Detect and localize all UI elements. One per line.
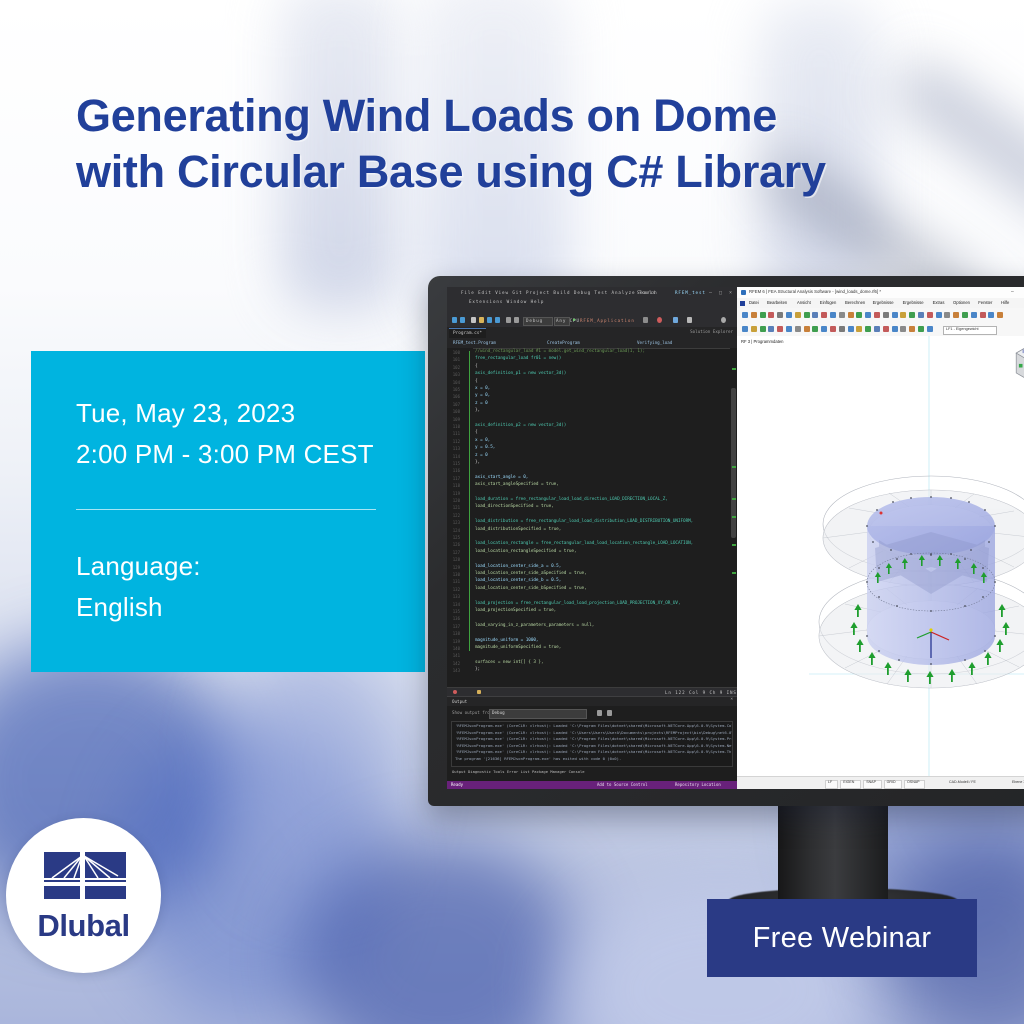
rfem-toolbar-icon[interactable] [997,312,1003,318]
status-repository[interactable]: Repository Location [675,782,721,787]
rfem-toolbar-icon[interactable] [839,312,845,318]
rfem-menu-item[interactable]: Extras [933,300,945,305]
code-line: load_location_center_side_a = 0.5, [475,565,561,569]
rfem-toolbar-icon[interactable] [848,312,854,318]
output-line: 'RFEMJsonProgram.exe' (CoreCLR: clrhost)… [455,724,733,728]
code-line: load_projection = free_rectangular_load_… [475,602,681,606]
line-number: 119 [453,491,460,496]
line-number: 112 [453,439,460,444]
line-number: 110 [453,424,460,429]
vs-maximize-button[interactable]: □ [719,290,722,296]
rfem-toolbar-icon[interactable] [865,326,871,332]
monitor-stand [778,804,888,900]
line-number: 126 [453,542,460,547]
rfem-logo-icon [740,301,745,306]
rfem-toolbar-icon[interactable] [821,312,827,318]
rfem-toolbar-icon[interactable] [856,312,862,318]
rfem-toolbar-icon[interactable] [865,312,871,318]
save-icon[interactable] [487,317,492,323]
vs-toolbar[interactable]: Debug Any CPU ▶ RFEM_Application [447,313,737,328]
rfem-toolbar-icon[interactable] [971,312,977,318]
line-number: 121 [453,505,460,510]
line-number: 105 [453,387,460,392]
warning-icon[interactable] [477,690,481,694]
dome-model-svg [809,336,1024,777]
rfem-menu-item[interactable]: Einfügen [820,300,837,305]
output-line: 'RFEMJsonProgram.exe' (CoreCLR: clrhost)… [455,731,733,735]
line-number: 132 [453,587,460,592]
rfem-toolbar-icon[interactable] [883,312,889,318]
rfem-menu-item[interactable]: Optionen [953,300,970,305]
language-label: Language: [76,551,201,582]
rfem-toolbar-icon[interactable] [786,312,792,318]
webinar-banner: Generating Wind Loads on Dome with Circu… [0,0,1024,1024]
output-panel-header: Output × [447,697,737,706]
rfem-toolbar-icon[interactable] [988,312,994,318]
wrap-output-icon[interactable] [607,710,612,716]
vs-editor-position: Ln 122 Col 9 Ch 9 INS [665,690,737,695]
breakpoint-icon[interactable] [657,317,662,323]
line-number: 134 [453,602,460,607]
rfem-toolbar-icon[interactable] [856,326,862,332]
error-icon[interactable] [453,690,457,694]
line-number: 111 [453,431,460,436]
open-file-icon[interactable] [479,317,484,323]
monitor-screen: File Edit View Git Project Build Debug T… [447,287,1024,789]
output-line: 'RFEMJsonProgram.exe' (CoreCLR: clrhost)… [455,737,733,741]
vs-change-bar [469,351,470,651]
line-number: 140 [453,646,460,651]
line-number: 114 [453,454,460,459]
clear-output-icon[interactable] [597,710,602,716]
code-line: load_distributionSpecified = true, [475,528,561,532]
code-line: load_distribution = free_rectangular_loa… [475,520,693,524]
rfem-toolbar-icon[interactable] [839,326,845,332]
tab-label: Program.cs* [453,331,482,336]
selected-node-marker [880,512,883,515]
line-number: 139 [453,639,460,644]
rfem-toolbar-row-2[interactable]: LF1 - Eigengewicht [737,322,1024,337]
rfem-menu-item[interactable]: Berechnen [845,300,865,305]
line-number: 138 [453,631,460,636]
vs-minimize-button[interactable]: – [709,290,712,296]
scrollbar-marker [732,516,736,518]
bridge-icon [44,852,126,902]
rfem-menu-item[interactable]: Ergebnisse [873,300,894,305]
step-over-icon[interactable] [673,317,678,323]
line-number: 142 [453,661,460,666]
event-date: Tue, May 23, 2023 [76,393,374,434]
rfem-toolbar-icon[interactable] [768,312,774,318]
line-number: 118 [453,483,460,488]
breadcrumb-method[interactable]: Verifying_load [637,340,672,345]
rfem-menu-item[interactable]: Ansicht [797,300,811,305]
view-cube-icon[interactable] [1009,342,1024,384]
code-line: { [475,431,478,435]
scrollbar-marker [732,544,736,546]
rfem-toolbar-icon[interactable] [918,326,924,332]
rfem-toolbar-icon[interactable] [812,312,818,318]
vs-status-bar: Ready Add to Source Control Repository L… [447,781,737,789]
rfem-toolbar-icon[interactable] [900,312,906,318]
line-number: 120 [453,498,460,503]
code-line: load_location_center_side_b = 0.5, [475,579,561,583]
event-datetime: Tue, May 23, 2023 2:00 PM - 3:00 PM CEST [76,393,374,475]
code-line: surfaces = new int[] { 3 }, [475,661,544,665]
code-line: magnitude_uniform = 1000, [475,639,538,643]
code-line: load_projectionSpecified = true, [475,609,556,613]
stop-icon[interactable] [643,317,648,323]
vs-solution-explorer-label[interactable]: Solution Explorer [690,329,733,334]
vs-editor-scrollbar[interactable] [730,348,737,697]
rfem-status-segment-label: GRID [887,780,896,784]
line-number: 127 [453,550,460,555]
title-line-1: Generating Wind Loads on Dome [76,90,777,141]
code-line: x = 0, [475,387,490,391]
vs-menu-bar-2[interactable]: Extensions Window Help [469,299,544,304]
rfem-toolbar-icon[interactable] [812,326,818,332]
rfem-toolbar-icon[interactable] [777,326,783,332]
rfem-toolbar-icon[interactable] [830,326,836,332]
rfem-3d-viewport[interactable] [809,336,1024,777]
monitor: File Edit View Git Project Build Debug T… [428,276,1024,806]
code-line: free_rectangular_load fr01 = new() [475,357,561,361]
rfem-load-case-value: LF1 - Eigengewicht [946,327,979,331]
divider [76,509,376,510]
new-file-icon[interactable] [471,317,476,323]
navigator-item[interactable]: RF 3 | Programmdaten [741,339,784,344]
code-line: { [475,365,478,369]
rfem-status-segment-label: SNAP [866,780,876,784]
scrollbar-marker [732,498,736,500]
code-line: axis_start_angle = 0, [475,476,528,480]
output-line: 'RFEMJsonProgram.exe' (CoreCLR: clrhost)… [455,750,733,754]
rfem-toolbar-icon[interactable] [821,326,827,332]
rfem-toolbar-icon[interactable] [751,312,757,318]
settings-icon[interactable] [687,317,692,323]
line-number: 103 [453,372,460,377]
code-line: }; [475,668,480,672]
line-number: 117 [453,476,460,481]
rfem-toolbar-icon[interactable] [953,312,959,318]
run-button[interactable]: ▶ [573,317,576,323]
vs-title-bar: File Edit View Git Project Build Debug T… [447,287,737,313]
rfem-status-segment-label: OSNAP [907,780,920,784]
rfem-status-right-1: CAD-Modell / FE [949,780,976,784]
save-all-icon[interactable] [495,317,500,323]
rfem-toolbar-icon[interactable] [830,312,836,318]
code-line: y = 0, [475,394,490,398]
vs-search-label[interactable]: Search [637,290,658,295]
output-panel-title: Output [452,699,467,704]
output-log[interactable]: 'RFEMJsonProgram.exe' (CoreCLR: clrhost)… [451,721,733,767]
event-info-panel: Tue, May 23, 2023 2:00 PM - 3:00 PM CEST… [31,351,425,672]
code-line: z = 0 [475,402,488,406]
free-webinar-label: Free Webinar [753,922,932,955]
output-filter-value: Debug [492,710,505,715]
rfem-minimize-button[interactable]: – [1011,289,1014,295]
language-value: English [76,592,163,623]
line-number: 141 [453,653,460,658]
rfem-toolbar-icon[interactable] [944,312,950,318]
line-number: 101 [453,357,460,362]
line-number: 135 [453,609,460,614]
rfem-toolbar-icon[interactable] [918,312,924,318]
status-ready: Ready [451,782,463,787]
rfem-title-text: RFEM 6 | FEA Structural Analysis Softwar… [749,289,881,294]
line-number: 137 [453,624,460,629]
back-icon[interactable] [452,317,457,323]
code-line: x = 0, [475,439,490,443]
rfem-toolbar-icon[interactable] [883,326,889,332]
line-number: 125 [453,535,460,540]
visual-studio-window[interactable]: File Edit View Git Project Build Debug T… [447,287,737,789]
rfem-toolbar-icon[interactable] [795,312,801,318]
rfem-toolbar-icon[interactable] [874,312,880,318]
dlubal-logo[interactable]: Dlubal [6,818,161,973]
output-line: The program '[21636] RFEMJsonProgram.exe… [455,757,621,761]
line-number: 107 [453,402,460,407]
rfem-status-segment-label: LF [828,780,832,784]
rfem-toolbar-icon[interactable] [795,326,801,332]
rfem-toolbar-icon[interactable] [927,312,933,318]
rfem-toolbar-icon[interactable] [804,326,810,332]
rfem-menu-item[interactable]: Hilfe [1001,300,1009,305]
code-line: }, [475,461,480,465]
rfem-toolbar-icon[interactable] [909,312,915,318]
code-line: { [475,380,478,384]
line-number: 133 [453,594,460,599]
vs-tab-strip[interactable]: Program.cs* Solution Explorer [447,327,737,338]
breadcrumb-class[interactable]: CreateProgram [547,340,580,345]
line-number: 106 [453,394,460,399]
rfem-toolbar-row-1[interactable] [737,308,1024,323]
page-title: Generating Wind Loads on Dome with Circu… [76,88,936,201]
rfem-toolbar-icon[interactable] [936,312,942,318]
rfem-window[interactable]: RFEM 6 | FEA Structural Analysis Softwar… [737,287,1024,789]
rfem-toolbar-icon[interactable] [751,326,757,332]
magnifier-icon[interactable] [721,317,726,323]
line-number: 123 [453,520,460,525]
rfem-toolbar-icon[interactable] [874,326,880,332]
code-line: axis_definition_p1 = new vector_3d() [475,372,566,376]
rfem-toolbar-icon[interactable] [777,312,783,318]
rfem-toolbar-icon[interactable] [804,312,810,318]
line-number: 102 [453,365,460,370]
code-line: }, [475,409,480,413]
line-number: 108 [453,409,460,414]
line-number: 129 [453,565,460,570]
vs-platform-value: Any CPU [556,318,580,323]
undo-icon[interactable] [506,317,511,323]
dlubal-wordmark: Dlubal [6,908,161,944]
code-line: load_directionSpecified = true, [475,505,554,509]
code-line: z = 0 [475,454,488,458]
code-line: load_location_center_side_bSpecified = t… [475,587,587,591]
rfem-navigator[interactable]: RF 3 | Programmdaten [737,336,810,777]
rfem-toolbar-icon[interactable] [786,326,792,332]
breadcrumb-namespace[interactable]: RFEM_test.Program [453,340,496,345]
vs-menu-bar[interactable]: File Edit View Git Project Build Debug T… [461,290,656,295]
output-line: 'RFEMJsonProgram.exe' (CoreCLR: clrhost)… [455,744,733,748]
line-number: 109 [453,417,460,422]
line-number: 113 [453,446,460,451]
line-number: 136 [453,616,460,621]
free-webinar-button[interactable]: Free Webinar [707,899,977,977]
line-number: 115 [453,461,460,466]
output-panel-tabs[interactable]: Output Diagnostic Tools Error List Packa… [452,769,585,774]
line-number: 128 [453,557,460,562]
rfem-toolbar-icon[interactable] [760,312,766,318]
code-line: load_location_rectangleSpecified = true, [475,550,576,554]
line-number: 100 [453,350,460,355]
rfem-toolbar-icon[interactable] [909,326,915,332]
rfem-status-bar: CAD-Modell / FE Ebene XY LFEIGENSNAPGRID… [737,776,1024,789]
code-line: load_location_center_side_aSpecified = t… [475,572,587,576]
vs-solution-label: RFEM_test [675,290,706,295]
title-line-2: with Circular Base using C# Library [76,144,936,200]
scrollbar-marker [732,368,736,370]
code-line: //wind_rectangular_load #1 = model.get_w… [475,350,645,354]
code-line: y = 0.5, [475,446,495,450]
rfem-toolbar-icon[interactable] [768,326,774,332]
line-number: 130 [453,572,460,577]
rfem-toolbar-icon[interactable] [742,312,748,318]
rfem-toolbar-icon[interactable] [962,312,968,318]
code-line: load_location_rectangle = free_rectangul… [475,542,693,546]
rfem-status-segment-label: EIGEN [843,780,854,784]
event-time: 2:00 PM - 3:00 PM CEST [76,434,374,475]
rfem-menu-item[interactable]: Fenster [978,300,992,305]
code-line: axis_definition_p2 = new vector_3d() [475,424,566,428]
rfem-toolbar-icon[interactable] [980,312,986,318]
code-line: load_varying_in_z_parameters_parameters … [475,624,594,628]
code-line: axis_start_angleSpecified = true, [475,483,559,487]
status-source-control[interactable]: Add to Source Control [597,782,648,787]
rfem-menu-item[interactable]: Ergebnisse [903,300,924,305]
line-number: 116 [453,468,460,473]
tab-program-cs[interactable]: Program.cs* [449,328,486,338]
rfem-menu-item[interactable]: Bearbeiten [767,300,787,305]
forward-icon[interactable] [460,317,465,323]
line-number: 124 [453,528,460,533]
rfem-toolbar-icon[interactable] [927,326,933,332]
vs-code-editor[interactable]: //wind_rectangular_load #1 = model.get_w… [475,348,729,697]
line-number: 122 [453,513,460,518]
vs-close-button[interactable]: × [729,290,732,296]
redo-icon[interactable] [514,317,519,323]
vs-run-target-label: RFEM_Application [580,318,635,323]
line-number: 131 [453,579,460,584]
rfem-app-icon [741,290,746,295]
rfem-toolbar-icon[interactable] [892,312,898,318]
vs-configuration-value: Debug [526,318,543,323]
rfem-menu-item[interactable]: Datei [749,300,759,305]
line-number: 143 [453,668,460,673]
code-line: magnitude_uniformSpecified = true, [475,646,561,650]
scrollbar-marker [732,466,736,468]
rfem-toolbar-icon[interactable] [742,326,748,332]
rfem-status-right-2: Ebene XY [1012,780,1024,784]
rfem-toolbar-icon[interactable] [892,326,898,332]
output-panel-close[interactable]: × [730,697,733,702]
rfem-toolbar-icon[interactable] [760,326,766,332]
rfem-toolbar-icon[interactable] [848,326,854,332]
vs-output-panel[interactable]: Output × Show output from: Debug 'RFEMJs… [447,696,737,781]
line-number: 104 [453,380,460,385]
code-line: load_duration = free_rectangular_load_lo… [475,498,668,502]
rfem-toolbar-icon[interactable] [900,326,906,332]
scrollbar-marker [732,572,736,574]
